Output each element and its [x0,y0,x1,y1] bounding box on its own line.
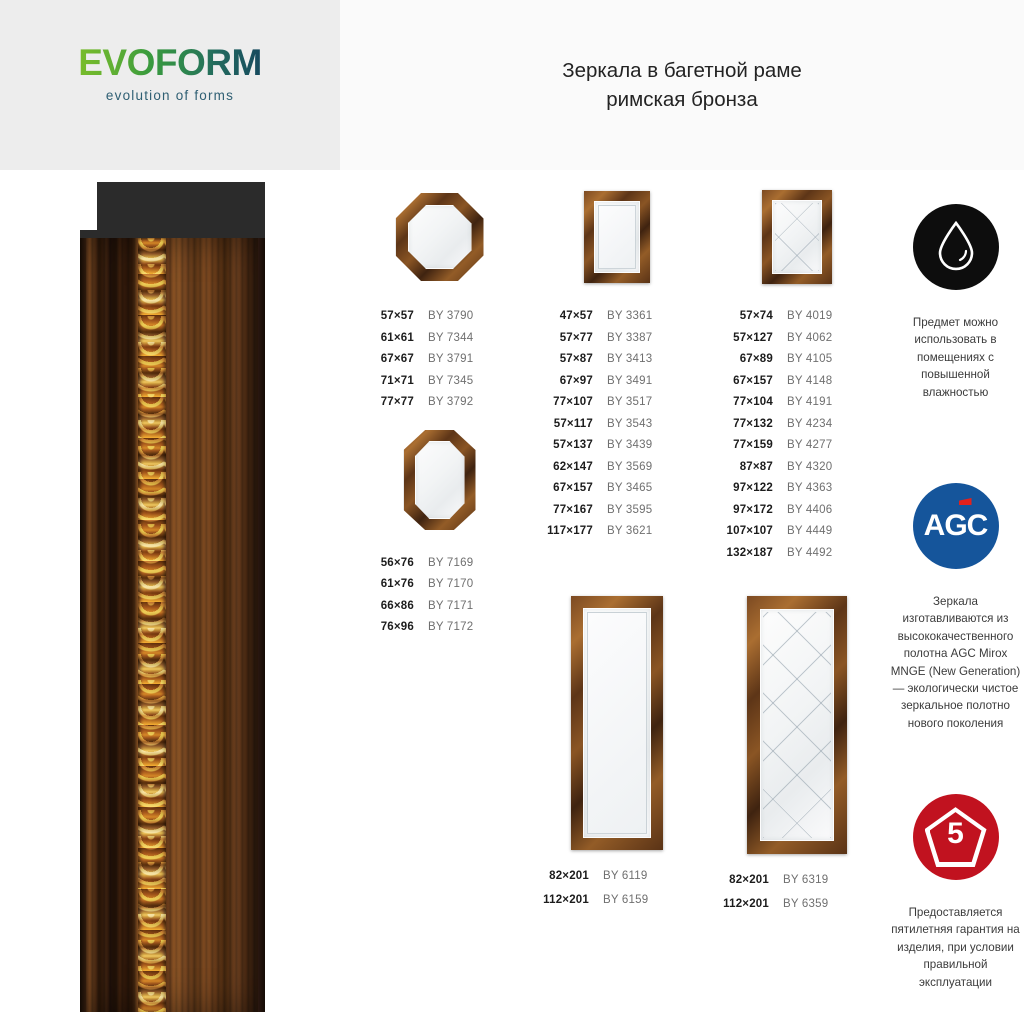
size-dimensions: 61×61 [352,332,414,344]
size-dimensions: 112×201 [527,894,589,906]
size-row[interactable]: 112×201BY 6159 [527,894,707,906]
size-code: BY 3517 [607,396,652,408]
size-row[interactable]: 61×61 BY 7344 [352,332,527,344]
size-code: BY 3543 [607,418,652,430]
catalog-page: EVOFORM evolution of forms Зеркала в баг… [0,0,1024,1024]
size-code: BY 3790 [428,310,473,322]
size-row[interactable]: 57×77BY 3387 [527,332,707,344]
size-dimensions: 56×76 [352,557,414,569]
size-code: BY 3621 [607,525,652,537]
size-code: BY 4105 [787,353,832,365]
size-code: BY 3569 [607,461,652,473]
size-code: BY 7171 [428,600,473,612]
size-code: BY 4019 [787,310,832,322]
page-title: Зеркала в багетной раме римская бронза [340,0,1024,170]
size-dimensions: 87×87 [707,461,773,473]
size-list-tall-facet: 82×201BY 6319 112×201BY 6359 [707,874,887,910]
warranty-5-years-icon: 5 ЛЕТ ГАРАНТИИ [913,794,999,880]
column-octagon: 57×57 BY 3790 61×61 BY 7344 67×67 BY 379… [352,182,527,643]
size-row[interactable]: 57×74BY 4019 [707,310,887,322]
size-row[interactable]: 117×177BY 3621 [527,525,707,537]
size-dimensions: 66×86 [352,600,414,612]
frame-wood-grain [80,238,265,1012]
size-row[interactable]: 62×147BY 3569 [527,461,707,473]
size-dimensions: 132×187 [707,547,773,559]
size-dimensions: 67×67 [352,353,414,365]
size-code: BY 6119 [603,870,647,882]
size-dimensions: 77×104 [707,396,773,408]
size-row[interactable]: 87×87BY 4320 [707,461,887,473]
size-code: BY 7169 [428,557,473,569]
size-row[interactable]: 66×86 BY 7171 [352,600,527,612]
size-row[interactable]: 76×96 BY 7172 [352,621,527,633]
size-code: BY 3792 [428,396,473,408]
size-code: BY 7344 [428,332,473,344]
size-dimensions: 57×137 [527,439,593,451]
size-dimensions: 57×127 [707,332,773,344]
size-code: BY 4492 [787,547,832,559]
size-row[interactable]: 67×89BY 4105 [707,353,887,365]
frame-moulding-sample [80,182,265,1012]
size-code: BY 3595 [607,504,652,516]
size-dimensions: 76×96 [352,621,414,633]
logo-wordmark: EVOFORM [78,44,262,81]
feature-humidity-text: Предмет можно использовать в помещениях … [887,314,1024,401]
mirror-octagon-vertical[interactable] [352,418,527,543]
size-dimensions: 67×157 [707,375,773,387]
size-dimensions: 77×77 [352,396,414,408]
size-dimensions: 67×97 [527,375,593,387]
warranty-caption: ЛЕТ ГАРАНТИИ [925,861,987,866]
size-row[interactable]: 97×172BY 4406 [707,504,887,516]
size-row[interactable]: 82×201BY 6119 [527,870,707,882]
size-dimensions: 77×107 [527,396,593,408]
mirror-tall-bevel[interactable] [527,596,707,850]
size-row[interactable]: 56×76 BY 7169 [352,557,527,569]
size-row[interactable]: 47×57BY 3361 [527,310,707,322]
size-row[interactable]: 57×137BY 3439 [527,439,707,451]
size-code: BY 7345 [428,375,473,387]
frame-wood-texture [80,238,265,1012]
column-rectangle-plain: 47×57BY 3361 57×77BY 3387 57×87BY 3413 6… [527,182,707,547]
size-list-octagon: 57×57 BY 3790 61×61 BY 7344 67×67 BY 379… [352,310,527,408]
size-row[interactable]: 67×157BY 3465 [527,482,707,494]
mirror-rectangle-facet[interactable] [707,182,887,292]
size-row[interactable]: 57×127BY 4062 [707,332,887,344]
size-row[interactable]: 77×159BY 4277 [707,439,887,451]
size-code: BY 7170 [428,578,473,590]
feature-warranty: 5 ЛЕТ ГАРАНТИИ Предоставляется пятилетня… [887,794,1024,991]
size-code: BY 3791 [428,353,473,365]
size-dimensions: 67×157 [527,482,593,494]
size-dimensions: 97×122 [707,482,773,494]
size-row[interactable]: 57×57 BY 3790 [352,310,527,322]
feature-humidity: Предмет можно использовать в помещениях … [887,204,1024,401]
size-code: BY 4277 [787,439,832,451]
size-dimensions: 57×117 [527,418,593,430]
size-row[interactable]: 77×77 BY 3792 [352,396,527,408]
size-code: BY 3465 [607,482,652,494]
size-row[interactable]: 67×67 BY 3791 [352,353,527,365]
page-header: EVOFORM evolution of forms Зеркала в баг… [0,0,1024,170]
size-dimensions: 97×172 [707,504,773,516]
size-row[interactable]: 107×107BY 4449 [707,525,887,537]
frame-gold-ornament-strip [138,238,166,1012]
size-dimensions: 57×57 [352,310,414,322]
size-row[interactable]: 71×71 BY 7345 [352,375,527,387]
size-code: BY 3361 [607,310,652,322]
tall-mirror-plain-group: 82×201BY 6119 112×201BY 6159 [527,596,707,918]
frame-edge-left [80,238,86,1012]
size-dimensions: 77×159 [707,439,773,451]
size-dimensions: 61×76 [352,578,414,590]
size-list-rectangle-facet: 57×74BY 4019 57×127BY 4062 67×89BY 4105 … [707,310,887,559]
page-title-line-1: Зеркала в багетной раме [562,56,802,85]
size-dimensions: 82×201 [527,870,589,882]
size-dimensions: 112×201 [707,898,769,910]
size-row[interactable]: 112×201BY 6359 [707,898,887,910]
agc-logo-icon: AGC [913,483,999,569]
size-dimensions: 67×89 [707,353,773,365]
size-row[interactable]: 67×157BY 4148 [707,375,887,387]
size-dimensions: 57×77 [527,332,593,344]
water-drop-glyph [934,220,978,272]
mirror-octagon-plain[interactable] [352,182,527,292]
size-code: BY 7172 [428,621,473,633]
size-dimensions: 62×147 [527,461,593,473]
size-code: BY 6319 [783,874,828,886]
size-code: BY 4191 [787,396,832,408]
size-dimensions: 71×71 [352,375,414,387]
size-row[interactable]: 132×187BY 4492 [707,547,887,559]
size-dimensions: 57×74 [707,310,773,322]
size-list-octagon-vertical: 56×76 BY 7169 61×76 BY 7170 66×86 BY 717… [352,557,527,634]
size-code: BY 6359 [783,898,828,910]
warranty-pentagon: 5 ЛЕТ ГАРАНТИИ [925,807,987,867]
water-drop-icon [913,204,999,290]
agc-badge-label: AGC [924,509,988,543]
size-dimensions: 117×177 [527,525,593,537]
size-row[interactable]: 77×104BY 4191 [707,396,887,408]
tall-mirror-facet-group: 82×201BY 6319 112×201BY 6359 [707,596,887,922]
frame-edge-right [258,238,265,1012]
mirror-rectangle-bevel[interactable] [527,182,707,292]
brand-logo: EVOFORM evolution of forms [0,44,340,103]
size-code: BY 4148 [787,375,832,387]
feature-warranty-text: Предоставляется пятилетняя гарантия на и… [887,904,1024,991]
size-code: BY 4406 [787,504,832,516]
size-dimensions: 57×87 [527,353,593,365]
size-row[interactable]: 57×87BY 3413 [527,353,707,365]
size-row[interactable]: 57×117BY 3543 [527,418,707,430]
mirror-tall-facet[interactable] [707,596,887,854]
features-column: Предмет можно использовать в помещениях … [887,182,1024,991]
size-code: BY 4363 [787,482,832,494]
size-code: BY 4320 [787,461,832,473]
agc-red-accent [959,498,972,505]
size-row[interactable]: 77×167BY 3595 [527,504,707,516]
warranty-years-number: 5 [947,819,964,849]
size-dimensions: 77×167 [527,504,593,516]
size-code: BY 6159 [603,894,648,906]
size-row[interactable]: 97×122BY 4363 [707,482,887,494]
page-title-line-2: римская бронза [606,85,757,114]
size-code: BY 3387 [607,332,652,344]
size-code: BY 4449 [787,525,832,537]
size-dimensions: 82×201 [707,874,769,886]
size-list-tall-plain: 82×201BY 6119 112×201BY 6159 [527,870,707,906]
size-code: BY 4234 [787,418,832,430]
size-list-rectangle-plain: 47×57BY 3361 57×77BY 3387 57×87BY 3413 6… [527,310,707,537]
size-dimensions: 77×132 [707,418,773,430]
size-code: BY 3413 [607,353,652,365]
size-row[interactable]: 67×97BY 3491 [527,375,707,387]
logo-tagline: evolution of forms [0,88,340,103]
size-row[interactable]: 77×107BY 3517 [527,396,707,408]
size-code: BY 4062 [787,332,832,344]
size-code: BY 3491 [607,375,652,387]
logo-panel: EVOFORM evolution of forms [0,0,340,170]
size-row[interactable]: 61×76 BY 7170 [352,578,527,590]
feature-agc-text: Зеркала изготавливаются из высококачеств… [887,593,1024,732]
size-dimensions: 107×107 [707,525,773,537]
size-row[interactable]: 77×132BY 4234 [707,418,887,430]
size-dimensions: 47×57 [527,310,593,322]
feature-agc: AGC Зеркала изготавливаются из высококач… [887,483,1024,732]
column-rectangle-facet: 57×74BY 4019 57×127BY 4062 67×89BY 4105 … [707,182,887,568]
size-row[interactable]: 82×201BY 6319 [707,874,887,886]
size-code: BY 3439 [607,439,652,451]
